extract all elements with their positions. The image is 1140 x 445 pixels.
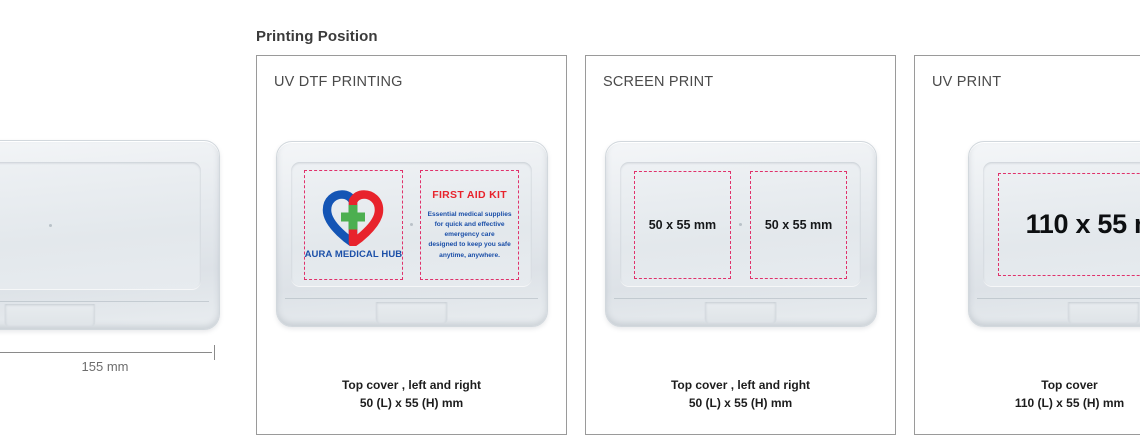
box-center-dot [410,223,413,226]
artwork-body-line: designed to keep you safe [428,240,512,250]
print-size-label: 50 x 55 mm [765,218,832,232]
print-area-right: FIRST AID KIT Essential medical supplies… [420,170,519,280]
card-stage: 50 x 55 mm 50 x 55 mm [586,141,895,341]
first-aid-box-illustration: 50 x 55 mm 50 x 55 mm [605,141,877,327]
card-caption-line2: 50 (L) x 55 (H) mm [257,395,566,412]
box-center-dot [49,224,52,227]
artwork-body: Essential medical supplies for quick and… [428,210,512,261]
artwork-logo: AURA MEDICAL HUB [305,171,402,279]
card-caption: Top cover , left and right 50 (L) x 55 (… [257,377,566,412]
card-caption-line2: 50 (L) x 55 (H) mm [586,395,895,412]
card-caption: Top cover , left and right 50 (L) x 55 (… [586,377,895,412]
section-title: Printing Position [256,28,378,45]
box-recessed-panel: 110 x 55 mm [983,162,1140,287]
print-size-label: 110 x 55 mm [1026,209,1140,240]
dimension-label: 155 mm [0,359,210,374]
printing-method-card[interactable]: UV PRINT 110 x 55 mm Top cover 110 (L) x… [914,55,1140,435]
box-recessed-panel: 50 x 55 mm 50 x 55 mm [620,162,862,287]
artwork-text-block: FIRST AID KIT Essential medical supplies… [425,171,514,279]
box-center-dot [739,223,742,226]
artwork-headline: FIRST AID KIT [432,189,507,201]
card-caption: Top cover 110 (L) x 55 (H) mm [915,377,1140,412]
box-latch [704,302,777,324]
print-size-label: 50 x 55 mm [649,218,716,232]
card-title: UV PRINT [932,74,1001,90]
print-area-left: AURA MEDICAL HUB [304,170,403,280]
printing-method-card[interactable]: UV DTF PRINTING AURA MEDICAL HUB [256,55,567,435]
card-caption-line1: Top cover [915,377,1140,394]
print-area-full: 110 x 55 mm [998,173,1140,276]
card-stage: AURA MEDICAL HUB FIRST AID KIT Essential… [257,141,566,341]
box-latch [375,302,448,324]
print-area-right: 50 x 55 mm [750,171,847,279]
first-aid-box-illustration: AURA MEDICAL HUB FIRST AID KIT Essential… [276,141,548,327]
card-title: SCREEN PRINT [603,74,713,90]
printing-position-cards: UV DTF PRINTING AURA MEDICAL HUB [256,55,1140,435]
product-overview-panel: W ons 155 mm [0,0,232,445]
box-recessed-panel [0,162,201,290]
dimension-tick [214,345,215,360]
box-recessed-panel: AURA MEDICAL HUB FIRST AID KIT Essential… [291,162,533,287]
card-caption-line2: 110 (L) x 55 (H) mm [915,395,1140,412]
heart-with-medical-cross-icon [322,190,384,246]
artwork-logo-text: AURA MEDICAL HUB [305,249,403,260]
artwork-body-line: for quick and effective [428,220,512,230]
card-stage: 110 x 55 mm [915,141,1140,341]
first-aid-box-illustration: 110 x 55 mm [968,141,1140,327]
card-title: UV DTF PRINTING [274,74,403,90]
print-area-left: 50 x 55 mm [634,171,731,279]
artwork-body-line: anytime, anywhere. [428,251,512,261]
card-caption-line1: Top cover , left and right [257,377,566,394]
printing-method-card[interactable]: SCREEN PRINT 50 x 55 mm 50 x 55 mm Top c… [585,55,896,435]
box-latch [4,304,95,327]
artwork-body-line: emergency care [428,230,512,240]
box-latch [1067,302,1140,324]
product-image [0,140,220,330]
first-aid-box-illustration [0,140,220,330]
dimension-line [0,352,212,353]
artwork-body-line: Essential medical supplies [428,210,512,220]
card-caption-line1: Top cover , left and right [586,377,895,394]
